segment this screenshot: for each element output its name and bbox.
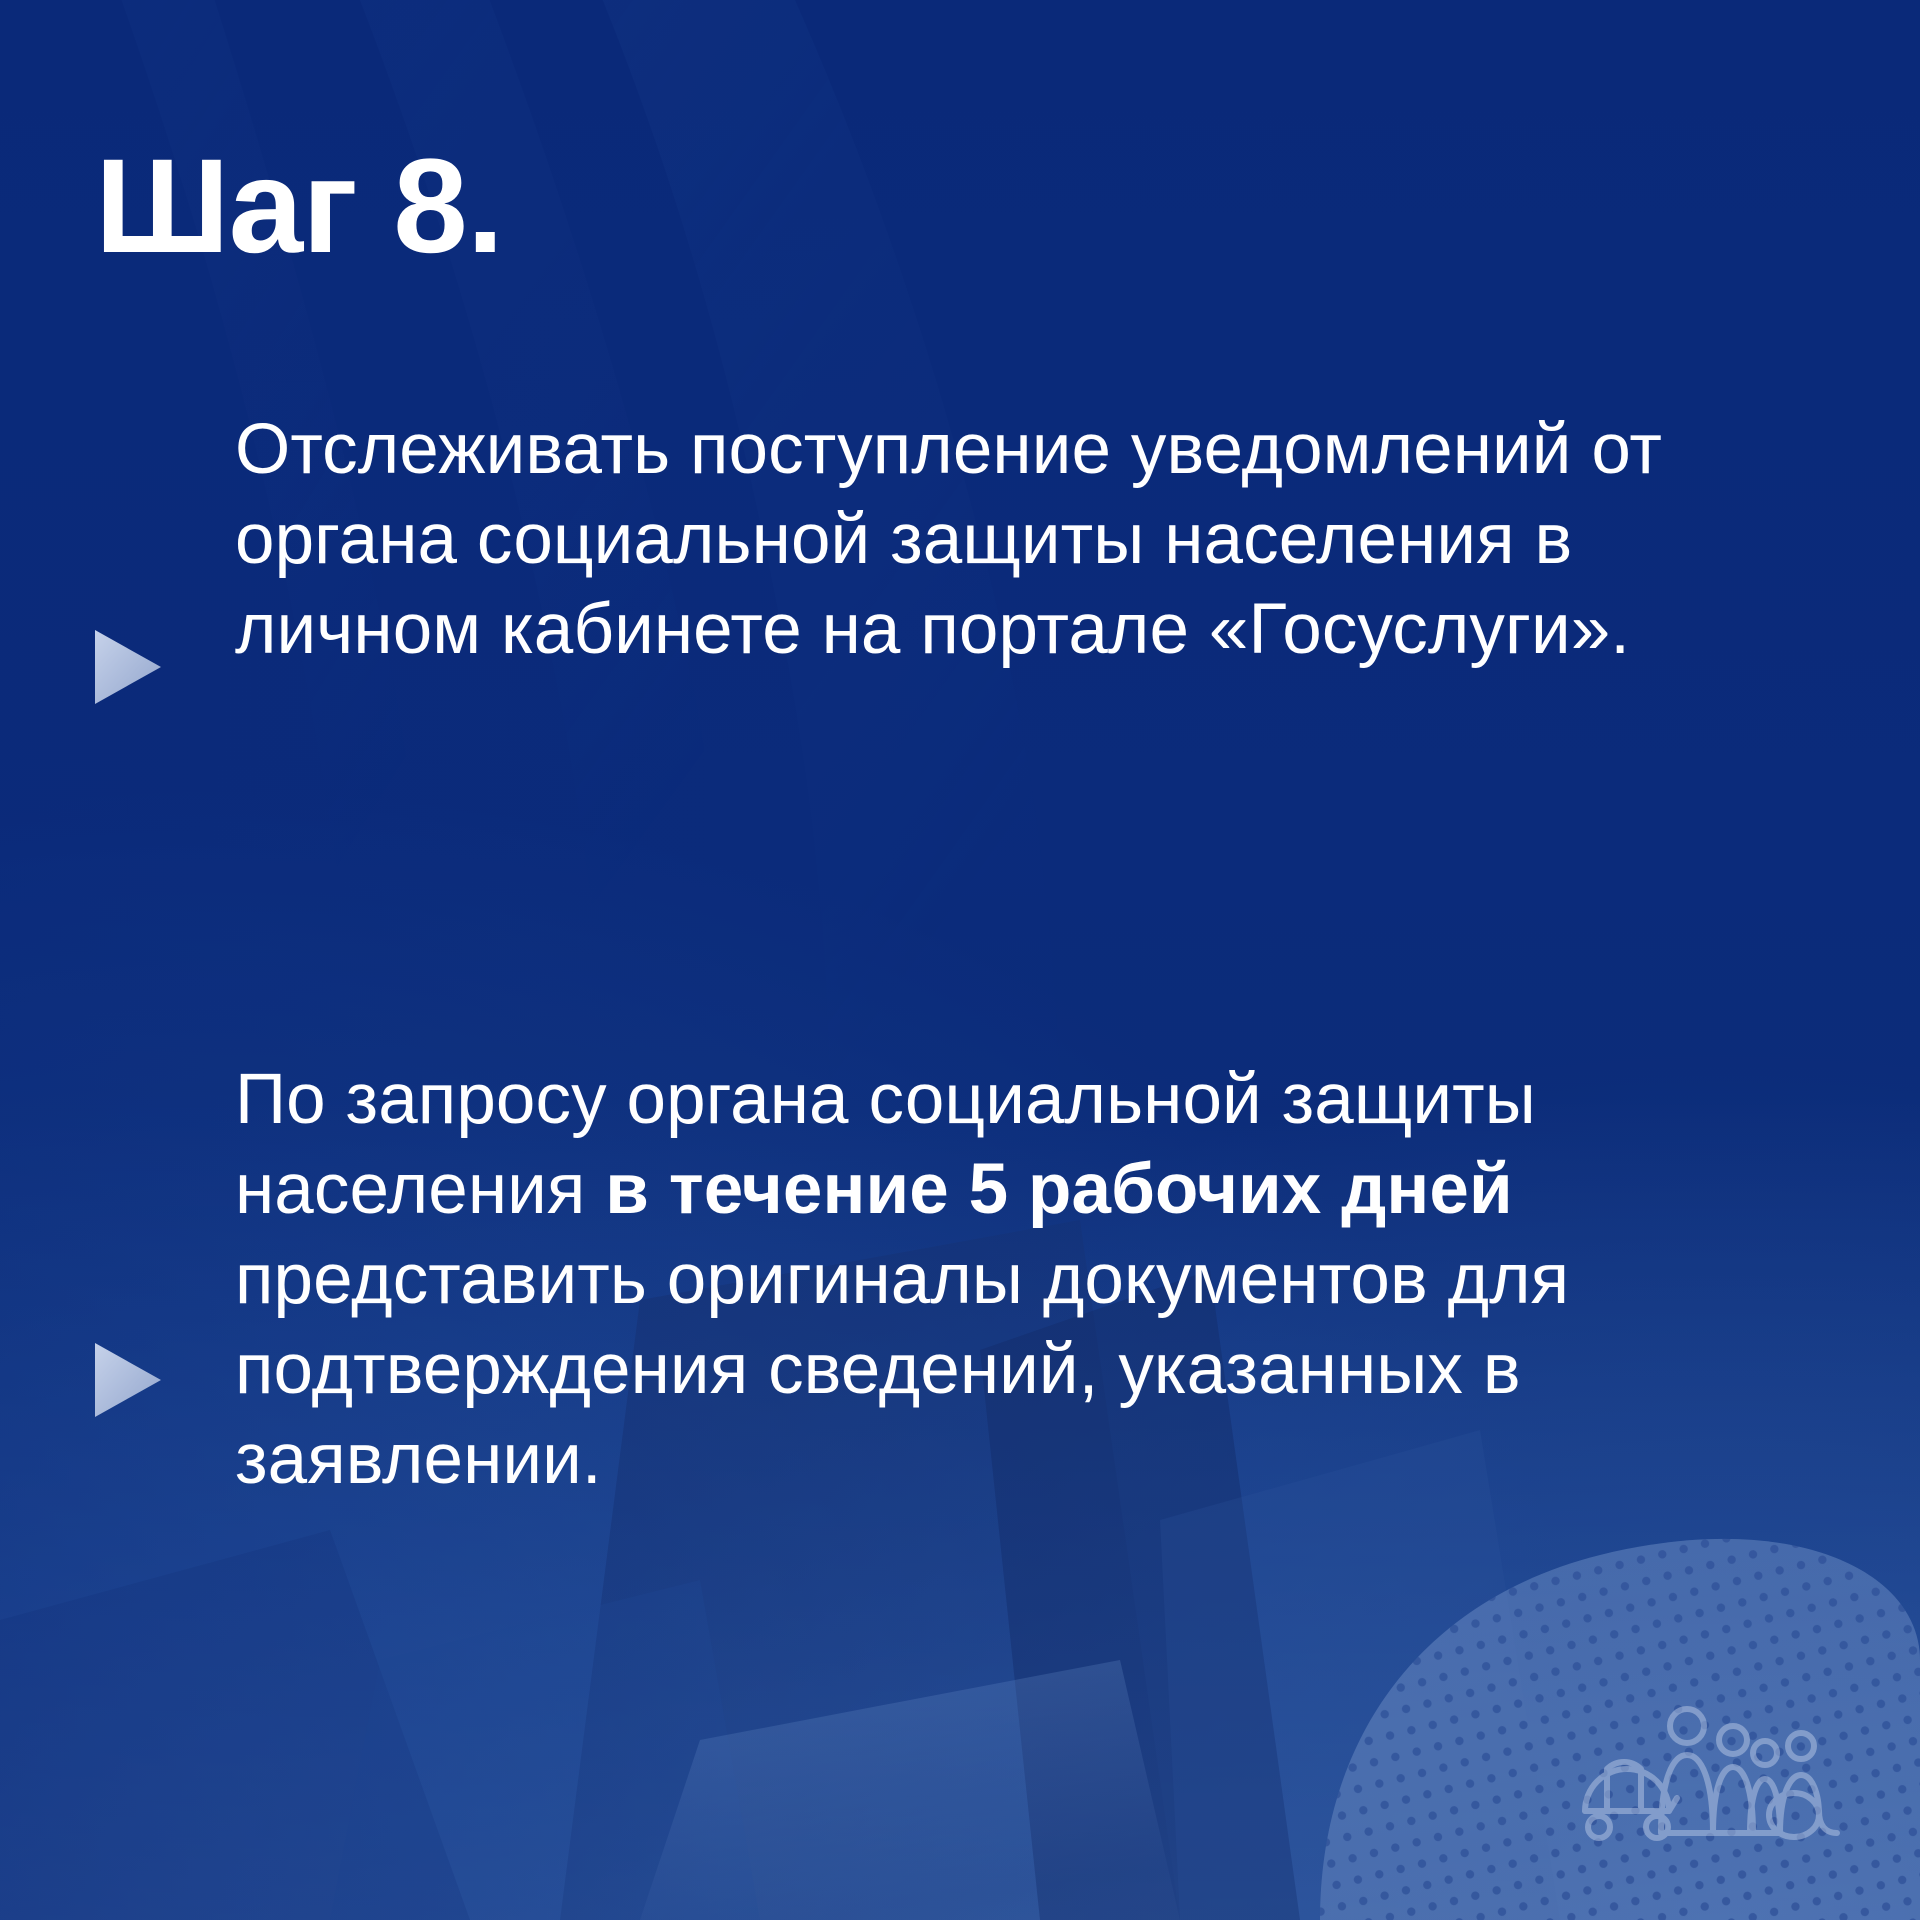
bullet-text-2-part-2-bold: в течение 5 рабочих дней — [605, 1150, 1512, 1229]
bullet-item-2: По запросу органа социальной защиты насе… — [95, 1055, 1800, 1505]
page-title: Шаг 8. — [95, 140, 503, 274]
bullet-text-1-part-1: Отслеживать поступление уведомлений от о… — [235, 410, 1662, 669]
bullet-text-2: По запросу органа социальной защиты насе… — [235, 1055, 1725, 1505]
slide-root: Шаг 8. Отслеживать поступление уведомлен… — [0, 0, 1920, 1920]
slide-content: Шаг 8. Отслеживать поступление уведомлен… — [0, 0, 1920, 1920]
bullet-text-1: Отслеживать поступление уведомлений от о… — [235, 405, 1725, 675]
triangle-right-marker-icon — [95, 1343, 161, 1417]
bullet-item-1: Отслеживать поступление уведомлений от о… — [95, 405, 1800, 675]
bullet-text-2-part-3: представить оригиналы документов для под… — [235, 1240, 1569, 1499]
triangle-right-marker-icon — [95, 630, 161, 704]
